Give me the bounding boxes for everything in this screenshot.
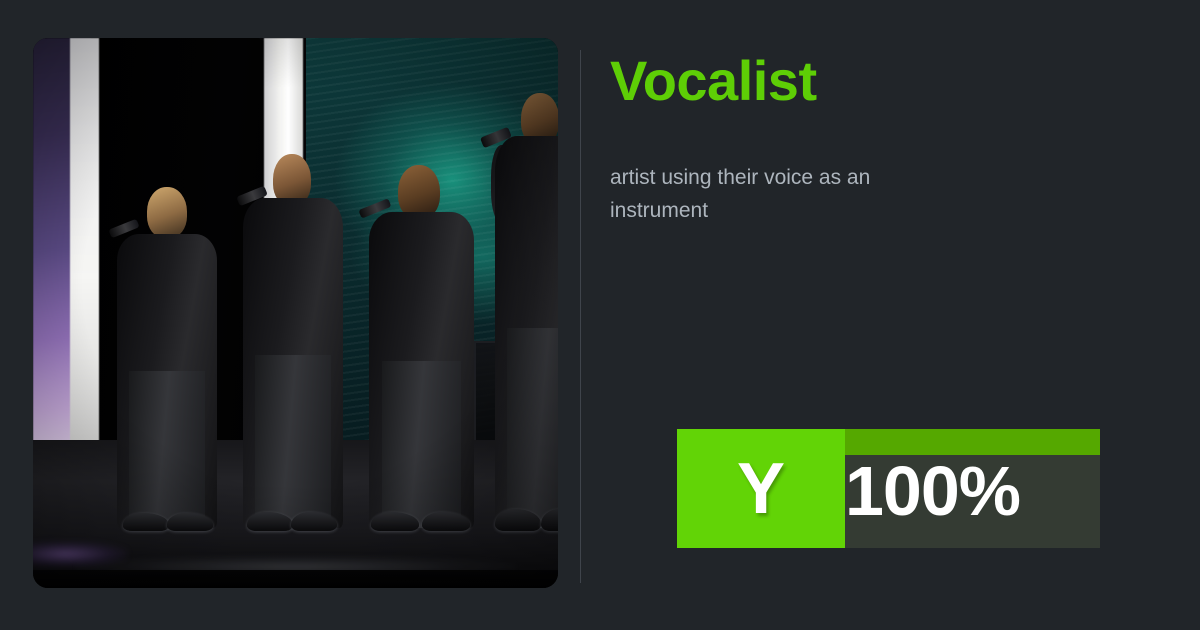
vertical-divider — [580, 50, 581, 583]
performer-3 — [369, 165, 474, 528]
performer-2 — [243, 154, 343, 528]
badge-score-text: 100% — [845, 456, 1020, 526]
performer-legs — [382, 361, 462, 528]
performer-head — [398, 165, 440, 219]
badge-score-panel: 100% — [845, 429, 1100, 548]
article-thumbnail — [33, 38, 558, 588]
white-curtain — [70, 38, 99, 473]
score-badge: Y 100% — [677, 429, 1100, 548]
performer-legs — [507, 328, 558, 528]
stage-scene — [33, 38, 558, 588]
performer-shoe — [123, 513, 169, 530]
badge-letter-text: Y — [737, 453, 785, 525]
performer-legs — [129, 371, 205, 528]
badge-letter-block: Y — [677, 429, 845, 548]
page-title: Vocalist — [610, 50, 817, 112]
performer-1 — [117, 187, 217, 528]
definition-description: artist using their voice as an instrumen… — [610, 162, 930, 227]
performer-head — [147, 187, 187, 238]
performer-legs — [255, 355, 331, 527]
floor-purple-glow — [33, 541, 128, 568]
performer-shoe — [422, 512, 470, 530]
performer-4 — [495, 93, 558, 528]
performer-shoe — [167, 513, 213, 530]
stage-front-edge — [33, 570, 558, 588]
